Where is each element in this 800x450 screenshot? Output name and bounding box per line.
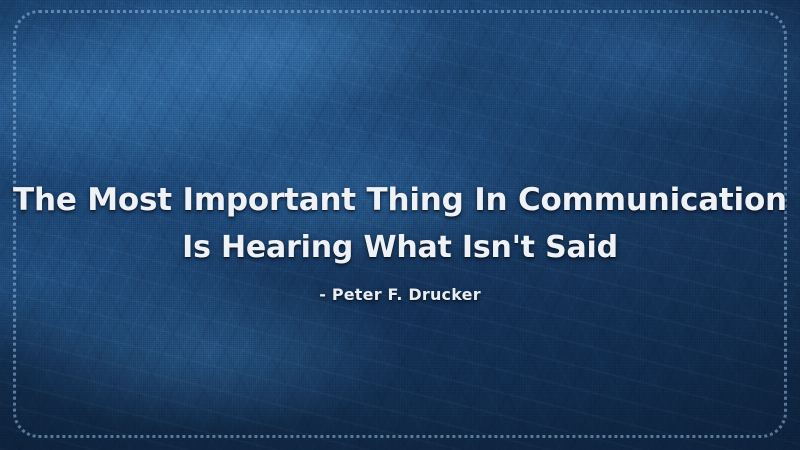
quote-slide: The Most Important Thing In Communicatio… <box>0 0 800 450</box>
quote-block: The Most Important Thing In Communicatio… <box>0 176 800 306</box>
quote-line-2: Is Hearing What Isn't Said <box>0 224 800 272</box>
quote-attribution: - Peter F. Drucker <box>0 284 800 306</box>
quote-line-1: The Most Important Thing In Communicatio… <box>0 176 800 224</box>
